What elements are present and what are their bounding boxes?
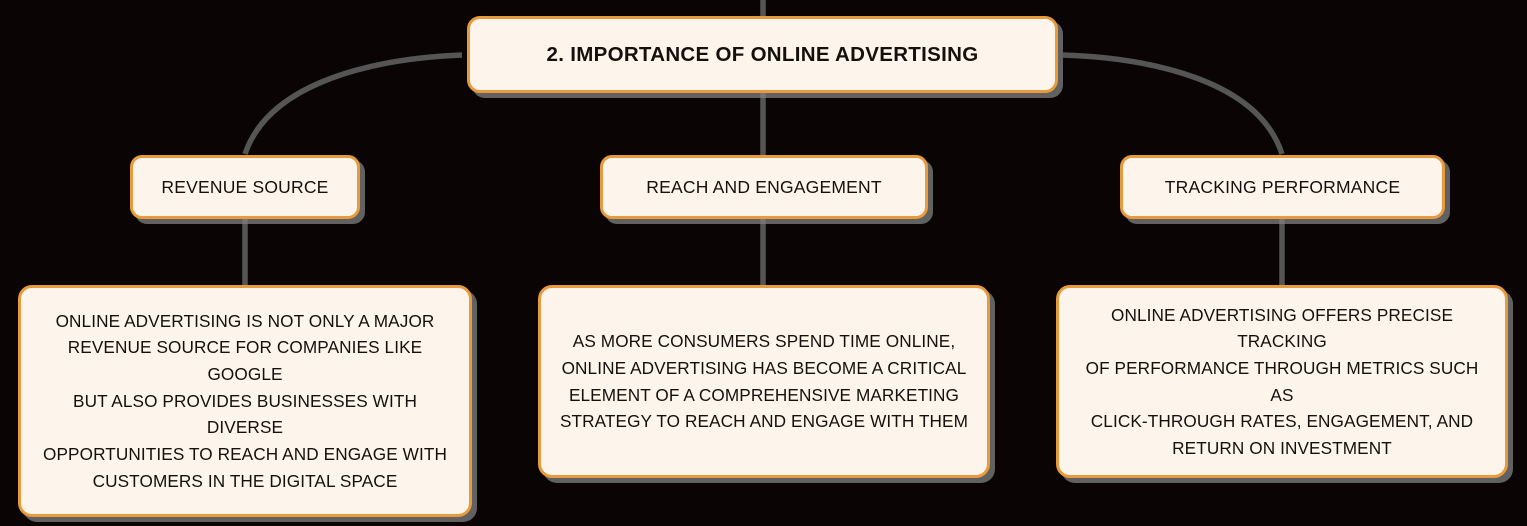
root-node[interactable]: 2. IMPORTANCE OF ONLINE ADVERTISING	[467, 16, 1058, 93]
branch-node-label: REACH AND ENGAGEMENT	[646, 177, 881, 198]
detail-node-text: ONLINE ADVERTISING IS NOT ONLY A MAJOR R…	[37, 308, 453, 495]
detail-node-text: AS MORE CONSUMERS SPEND TIME ONLINE, ONL…	[560, 328, 968, 435]
branch-node-label: TRACKING PERFORMANCE	[1165, 177, 1400, 198]
branch-node-label: REVENUE SOURCE	[161, 177, 328, 198]
mindmap-canvas: 2. IMPORTANCE OF ONLINE ADVERTISING REVE…	[0, 0, 1527, 526]
detail-node-reach-and-engagement[interactable]: AS MORE CONSUMERS SPEND TIME ONLINE, ONL…	[538, 285, 990, 478]
connector-root-to-branch-0	[245, 55, 462, 154]
branch-node-reach-and-engagement[interactable]: REACH AND ENGAGEMENT	[600, 155, 928, 219]
branch-node-revenue-source[interactable]: REVENUE SOURCE	[130, 155, 360, 219]
detail-node-revenue-source[interactable]: ONLINE ADVERTISING IS NOT ONLY A MAJOR R…	[18, 285, 472, 517]
branch-node-tracking-performance[interactable]: TRACKING PERFORMANCE	[1120, 155, 1445, 219]
detail-node-tracking-performance[interactable]: ONLINE ADVERTISING OFFERS PRECISE TRACKI…	[1056, 285, 1508, 478]
detail-node-text: ONLINE ADVERTISING OFFERS PRECISE TRACKI…	[1075, 302, 1489, 462]
root-node-label: 2. IMPORTANCE OF ONLINE ADVERTISING	[547, 43, 979, 67]
connector-root-to-branch-2	[1063, 55, 1282, 154]
